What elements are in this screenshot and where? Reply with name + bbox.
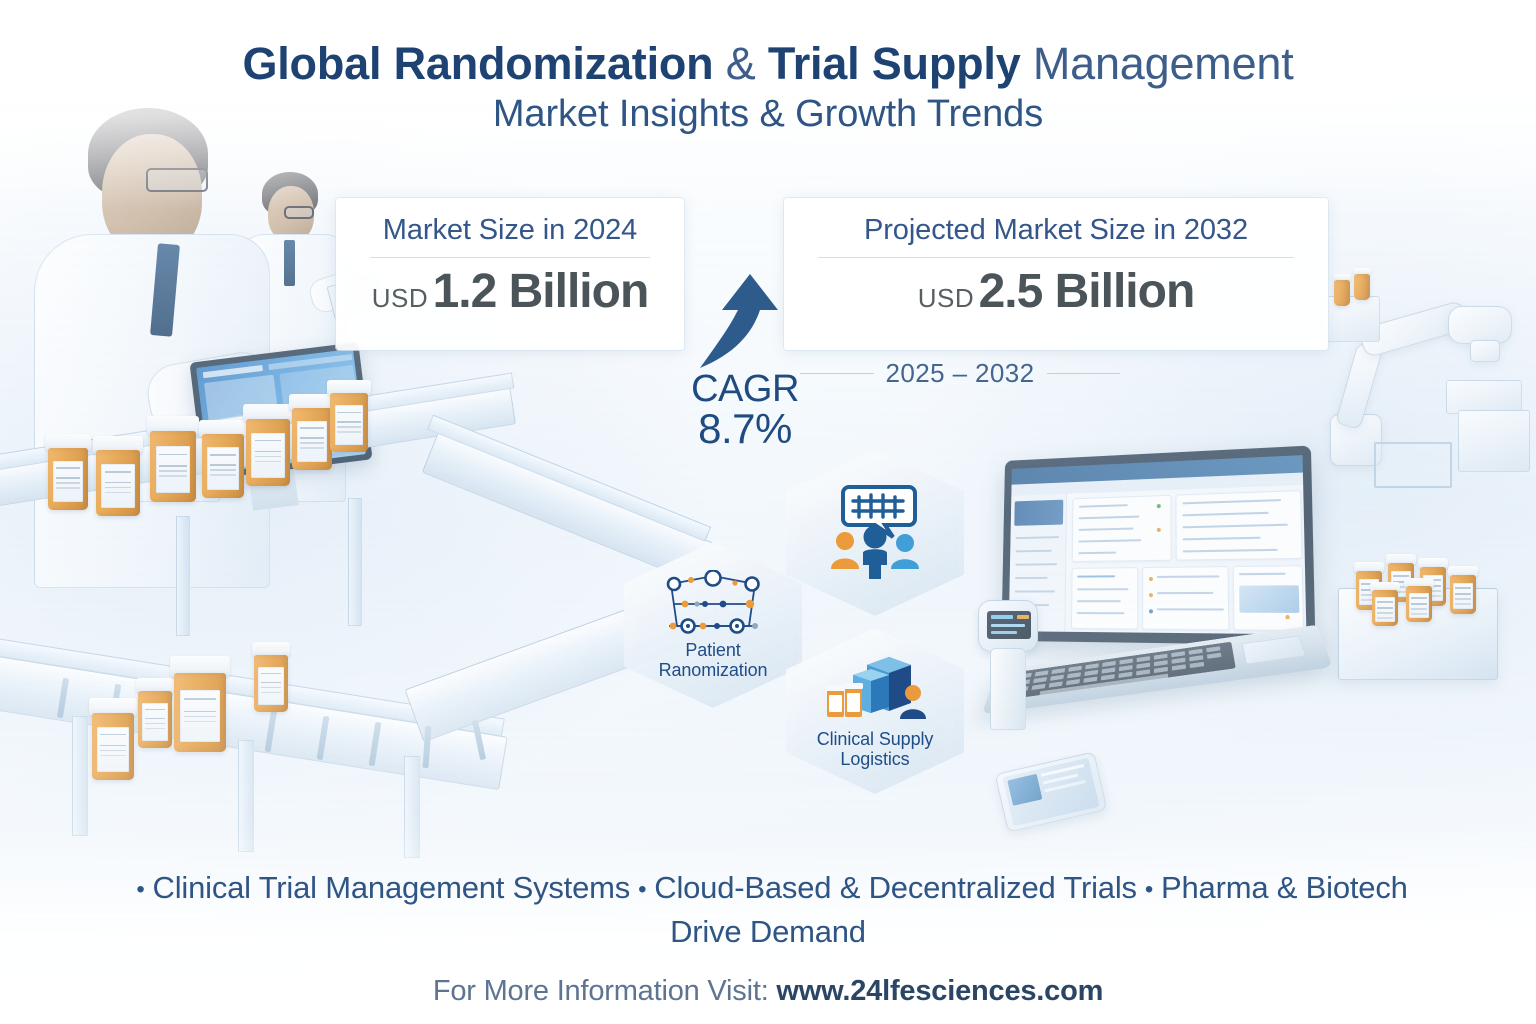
title-block: Global Randomization & Trial Supply Mana…: [0, 38, 1536, 137]
title-bold-1: Global Randomization: [242, 38, 713, 89]
hexagon-patient-engagement[interactable]: [786, 450, 964, 616]
pill-bottle-left: [826, 685, 845, 717]
card-amount: 1.2 Billion: [433, 265, 649, 318]
title-light: Management: [1021, 38, 1294, 89]
hexagon-label-line2: Logistics: [840, 749, 909, 769]
card-divider: [370, 257, 650, 258]
boxes-and-pill-bottles-icon: [823, 653, 927, 725]
hexagon-label: PatientRanomization: [659, 640, 768, 680]
stat-card-projected-market-size-2032: Projected Market Size in 2032 USD 2.5 Bi…: [784, 198, 1328, 350]
pill-bottle-right: [844, 683, 863, 717]
hexagon-label-line1: Patient: [685, 640, 740, 660]
hexagon-label-line1: Clinical Supply: [817, 729, 934, 749]
person-orange-left: [831, 532, 859, 569]
card-divider: [818, 257, 1294, 258]
title-bold-2: Trial Supply: [768, 38, 1021, 89]
cagr-value: 8.7%: [640, 408, 850, 450]
page-title: Global Randomization & Trial Supply Mana…: [0, 38, 1536, 90]
title-ampersand: &: [713, 38, 767, 89]
person-center-dark: [863, 526, 887, 580]
hexagon-patient-randomization[interactable]: PatientRanomization: [624, 542, 802, 708]
page-subtitle: Market Insights & Growth Trends: [0, 92, 1536, 137]
network-nodes-icon: [661, 570, 765, 636]
footer-cta: For More Information Visit: www.24lfesci…: [0, 975, 1536, 1008]
card-currency: USD: [372, 283, 428, 313]
bullet-dot: •: [1137, 876, 1161, 903]
bullet-dot: •: [128, 876, 152, 903]
person-blue-right: [891, 534, 919, 569]
hexagon-label: Clinical SupplyLogistics: [817, 729, 934, 769]
bullet-item-3-cont: Drive Demand: [670, 914, 866, 949]
bullet-item-3: Pharma & Biotech: [1161, 870, 1408, 905]
hexagon-clinical-supply-logistics[interactable]: Clinical SupplyLogistics: [786, 628, 964, 794]
period-text: 2025 – 2032: [886, 358, 1035, 389]
footer-prefix: For More Information Visit:: [433, 975, 777, 1007]
footer-url[interactable]: www.24lfesciences.com: [776, 975, 1103, 1007]
stat-card-market-size-2024: Market Size in 2024 USD 1.2 Billion: [336, 198, 684, 350]
card-currency: USD: [918, 283, 974, 313]
bullet-item-1: Clinical Trial Management Systems: [153, 870, 631, 905]
bullet-dot: •: [630, 876, 654, 903]
card-heading: Market Size in 2024: [336, 198, 684, 247]
people-with-speech-bubble-icon: [823, 479, 927, 583]
bullet-item-2: Cloud-Based & Decentralized Trials: [654, 870, 1137, 905]
card-heading: Projected Market Size in 2032: [784, 198, 1328, 247]
period-rule-left: [800, 373, 874, 374]
card-value: USD 1.2 Billion: [336, 264, 684, 319]
hexagon-label-line2: Ranomization: [659, 660, 768, 680]
forecast-period: 2025 – 2032: [800, 358, 1120, 389]
key-drivers-list: •Clinical Trial Management Systems•Cloud…: [48, 866, 1488, 954]
card-amount: 2.5 Billion: [979, 265, 1195, 318]
upward-growth-arrow-icon: [698, 272, 794, 372]
infographic-canvas: Global Randomization & Trial Supply Mana…: [0, 0, 1536, 1024]
period-rule-right: [1047, 373, 1121, 374]
card-value: USD 2.5 Billion: [784, 264, 1328, 319]
